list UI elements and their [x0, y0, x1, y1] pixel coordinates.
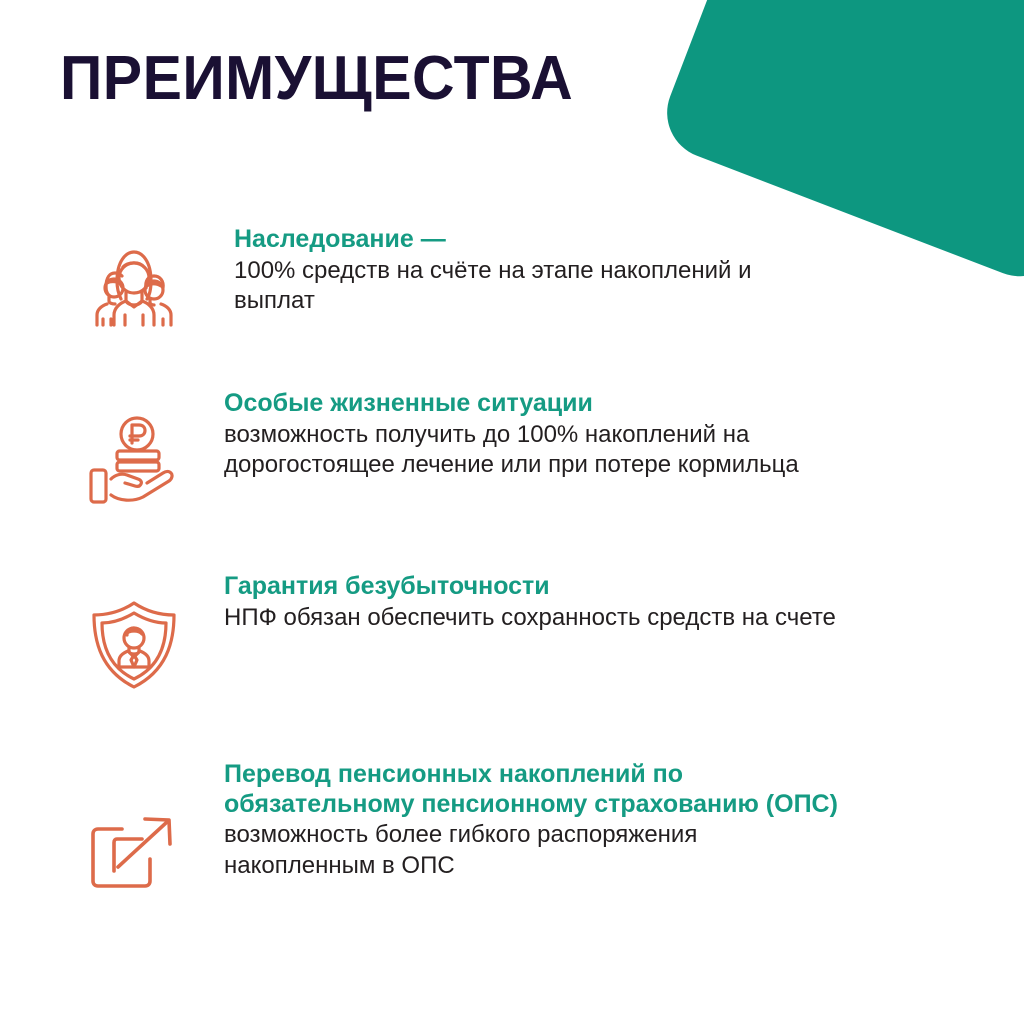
- benefit-body: возможность более гибкого распоряжения н…: [224, 820, 844, 881]
- benefit-heading: Особые жизненные ситуации: [224, 389, 844, 419]
- hand-with-ruble-coins-icon: [78, 413, 190, 509]
- benefit-body: возможность получить до 100% накоплений …: [224, 420, 844, 481]
- green-decoration-shape: [724, 0, 1024, 230]
- benefit-body: НПФ обязан обеспечить сохранность средст…: [224, 603, 844, 634]
- family-icon: [78, 245, 190, 331]
- benefit-heading: Перевод пенсионных накоплений по обязате…: [224, 760, 844, 819]
- benefit-text: Особые жизненные ситуации возможность по…: [224, 389, 844, 481]
- benefit-heading: Гарантия безубыточности: [224, 572, 844, 602]
- page-title: ПРЕИМУЩЕСТВА: [60, 48, 573, 110]
- benefit-heading: Наследование —: [234, 225, 754, 255]
- benefit-text: Гарантия безубыточности НПФ обязан обесп…: [224, 572, 844, 633]
- benefit-text: Перевод пенсионных накоплений по обязате…: [224, 760, 844, 881]
- transfer-arrow-out-icon: [78, 809, 190, 897]
- benefit-body: 100% средств на счёте на этапе накоплени…: [234, 256, 754, 317]
- benefit-text: Наследование — 100% средств на счёте на …: [234, 225, 754, 317]
- shield-with-person-icon: [78, 597, 190, 693]
- slide-root: ПРЕИМУЩЕСТВА: [0, 0, 1024, 1024]
